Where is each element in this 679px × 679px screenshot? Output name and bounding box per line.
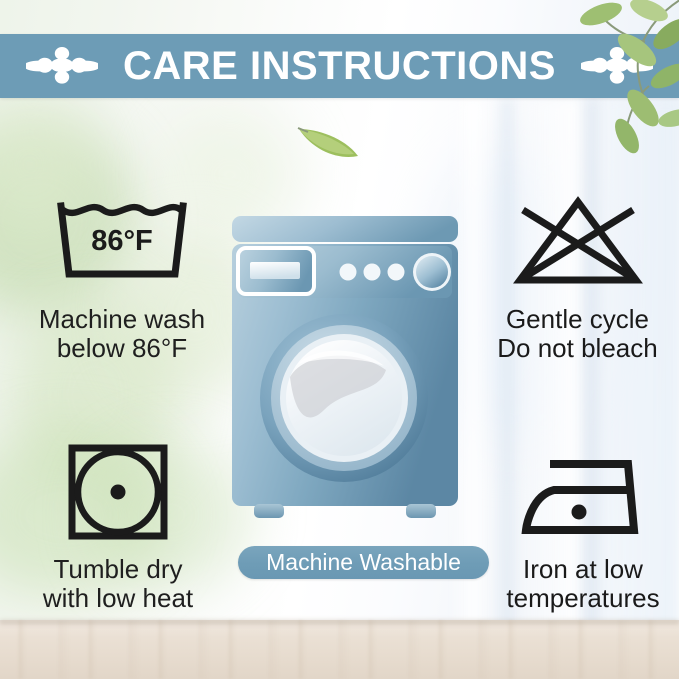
page-title: CARE INSTRUCTIONS [123, 46, 556, 86]
care-symbol-iron-low: Iron at low temperatures [488, 452, 678, 613]
care-instructions-infographic: CARE INSTRUCTIONS [0, 0, 679, 679]
table-edge-shadow [0, 620, 679, 627]
care-symbol-label: Iron at low temperatures [506, 555, 659, 613]
badge-label: Machine Washable [266, 551, 461, 574]
tumble-dry-square-circle-one-dot-icon [63, 442, 173, 547]
wash-temperature-value: 86°F [91, 225, 153, 257]
floating-leaf-icon [296, 120, 362, 164]
wood-grain-texture [0, 620, 679, 679]
care-symbol-tumble-dry-low: Tumble dry with low heat [18, 442, 218, 613]
iron-one-dot-icon [516, 452, 651, 547]
triangle-crossed-out-icon [503, 192, 653, 297]
washing-machine-illustration [228, 212, 462, 537]
wooden-table-surface [0, 620, 679, 679]
care-symbol-machine-wash: 86°F Machine wash below 86°F [22, 192, 222, 363]
fleur-de-lis-ornament-left-icon [26, 43, 98, 89]
wash-tub-icon: 86°F [47, 192, 197, 297]
fleur-de-lis-ornament-right-icon [581, 43, 653, 89]
header-banner: CARE INSTRUCTIONS [0, 34, 679, 98]
care-symbol-label: Tumble dry with low heat [43, 555, 193, 613]
care-symbol-do-not-bleach: Gentle cycle Do not bleach [480, 192, 675, 363]
care-symbol-label: Machine wash below 86°F [39, 305, 205, 363]
machine-washable-badge: Machine Washable [238, 546, 489, 579]
care-symbol-label: Gentle cycle Do not bleach [497, 305, 657, 363]
